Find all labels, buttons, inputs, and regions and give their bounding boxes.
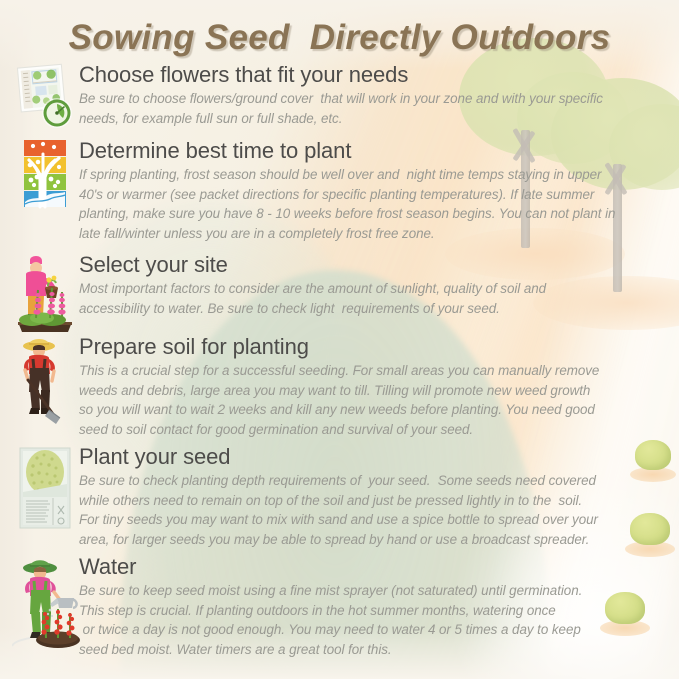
- garden-plan-map-icon: [12, 62, 74, 146]
- step-body: If spring planting, frost season should …: [79, 165, 669, 243]
- infographic-poster: Sowing Seed Directly Outdoors: [0, 0, 679, 679]
- step-5-text: Plant your seed Be sure to check plantin…: [79, 444, 669, 549]
- step-heading: Choose flowers that fit your needs: [79, 62, 669, 88]
- step-heading: Plant your seed: [79, 444, 669, 470]
- step-heading: Determine best time to plant: [79, 138, 669, 164]
- gardener-with-shovel-icon: [12, 334, 74, 418]
- step-heading: Prepare soil for planting: [79, 334, 669, 360]
- step-heading: Water: [79, 554, 669, 580]
- step-body: Be sure to check planting depth requirem…: [79, 471, 669, 549]
- step-body: Be sure to keep seed moist using a fine …: [79, 581, 669, 659]
- step-4-text: Prepare soil for planting This is a cruc…: [79, 334, 669, 439]
- step-body: Most important factors to consider are t…: [79, 279, 669, 318]
- step-6-text: Water Be sure to keep seed moist using a…: [79, 554, 669, 659]
- flower-bed-planting-icon: [12, 252, 74, 336]
- gardener-watering-icon: [12, 554, 74, 638]
- step-3-text: Select your site Most important factors …: [79, 252, 669, 318]
- step-body: This is a crucial step for a successful …: [79, 361, 669, 439]
- page-title: Sowing Seed Directly Outdoors: [0, 18, 679, 58]
- seed-packet-icon: [12, 444, 74, 528]
- step-2-text: Determine best time to plant If spring p…: [79, 138, 669, 243]
- step-1-text: Choose flowers that fit your needs Be su…: [79, 62, 669, 128]
- four-seasons-icon: [12, 138, 74, 222]
- step-heading: Select your site: [79, 252, 669, 278]
- step-body: Be sure to choose flowers/ground cover t…: [79, 89, 669, 128]
